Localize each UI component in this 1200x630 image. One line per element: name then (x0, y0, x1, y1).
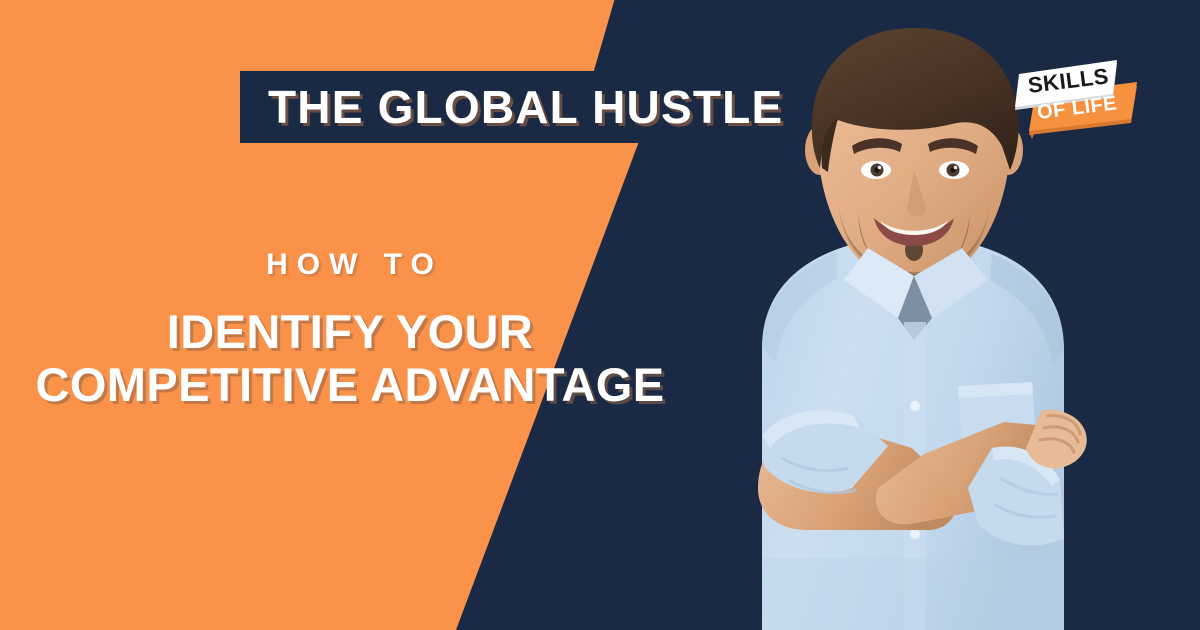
eyebrow-label: HOW TO (0, 250, 700, 280)
episode-headline: IDENTIFY YOUR COMPETITIVE ADVANTAGE (0, 306, 700, 411)
episode-cover-canvas: THE GLOBAL HUSTLE HOW TO IDENTIFY YOUR C… (0, 0, 1200, 630)
episode-copy-block: HOW TO IDENTIFY YOUR COMPETITIVE ADVANTA… (0, 250, 700, 411)
headline-line-2: COMPETITIVE ADVANTAGE (0, 359, 700, 412)
headline-line-1: IDENTIFY YOUR (0, 306, 700, 359)
brand-logo[interactable]: SKILLS OF LIFE (1013, 53, 1138, 138)
